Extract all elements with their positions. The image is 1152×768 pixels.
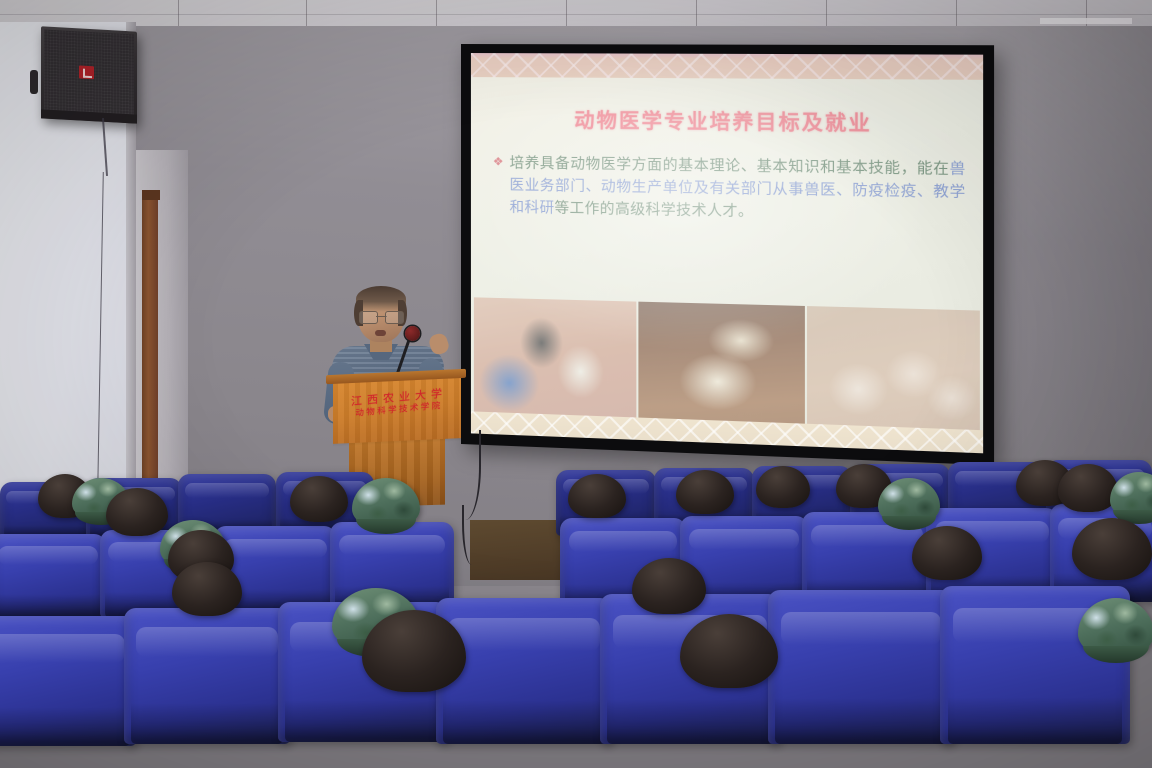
audience-seat bbox=[0, 534, 106, 620]
speaker-mount-bracket bbox=[30, 70, 38, 94]
audience-head bbox=[1058, 464, 1118, 512]
presenter-mouth bbox=[375, 330, 386, 336]
audience-seat bbox=[0, 616, 136, 746]
slide-bullet-item: ❖ 培养具备动物医学方面的基本理论、基本知识和基本技能，能在兽医业务部门、动物生… bbox=[493, 152, 966, 227]
microphone-icon bbox=[405, 326, 420, 341]
projection-screen: 动物医学专业培养目标及就业 ❖ 培养具备动物医学方面的基本理论、基本知识和基本技… bbox=[461, 44, 994, 465]
bullet-diamond-icon: ❖ bbox=[493, 155, 504, 218]
presenter-glasses bbox=[359, 311, 404, 322]
audience-head bbox=[632, 558, 706, 614]
door-frame-top bbox=[142, 190, 160, 200]
audience-head bbox=[676, 470, 734, 514]
slide-text-segment-1: 培养具备动物医学方面的基本理论、基本知识和基本技能，能在 bbox=[510, 156, 950, 178]
slide-text-segment-3: 等工作的高级科学技术人才。 bbox=[554, 201, 753, 221]
wall-speaker bbox=[41, 26, 137, 123]
slide-top-border bbox=[471, 53, 983, 80]
audience-head bbox=[172, 562, 242, 616]
audience-seat bbox=[124, 608, 290, 744]
slide-bullet-text: 培养具备动物医学方面的基本理论、基本知识和基本技能，能在兽医业务部门、动物生产单… bbox=[510, 153, 966, 228]
audience-camo-cap bbox=[352, 478, 420, 528]
slide-surface: 动物医学专业培养目标及就业 ❖ 培养具备动物医学方面的基本理论、基本知识和基本技… bbox=[471, 53, 983, 453]
audience-head bbox=[568, 474, 626, 518]
audience-seat bbox=[768, 590, 954, 744]
audience-head bbox=[1072, 518, 1152, 580]
speaker-logo-badge bbox=[79, 65, 94, 79]
audience-head bbox=[912, 526, 982, 580]
slide-title: 动物医学专业培养目标及就业 bbox=[471, 103, 983, 137]
audience-camo-cap bbox=[1078, 598, 1152, 656]
audience-head bbox=[106, 488, 168, 536]
audience-head bbox=[756, 466, 810, 508]
audience-head bbox=[290, 476, 348, 522]
audience-area bbox=[0, 430, 1152, 768]
lecture-hall-scene: 动物医学专业培养目标及就业 ❖ 培养具备动物医学方面的基本理论、基本知识和基本技… bbox=[0, 0, 1152, 768]
podium-inscription: 江西农业大学 动物科学技术学院 bbox=[343, 386, 455, 421]
